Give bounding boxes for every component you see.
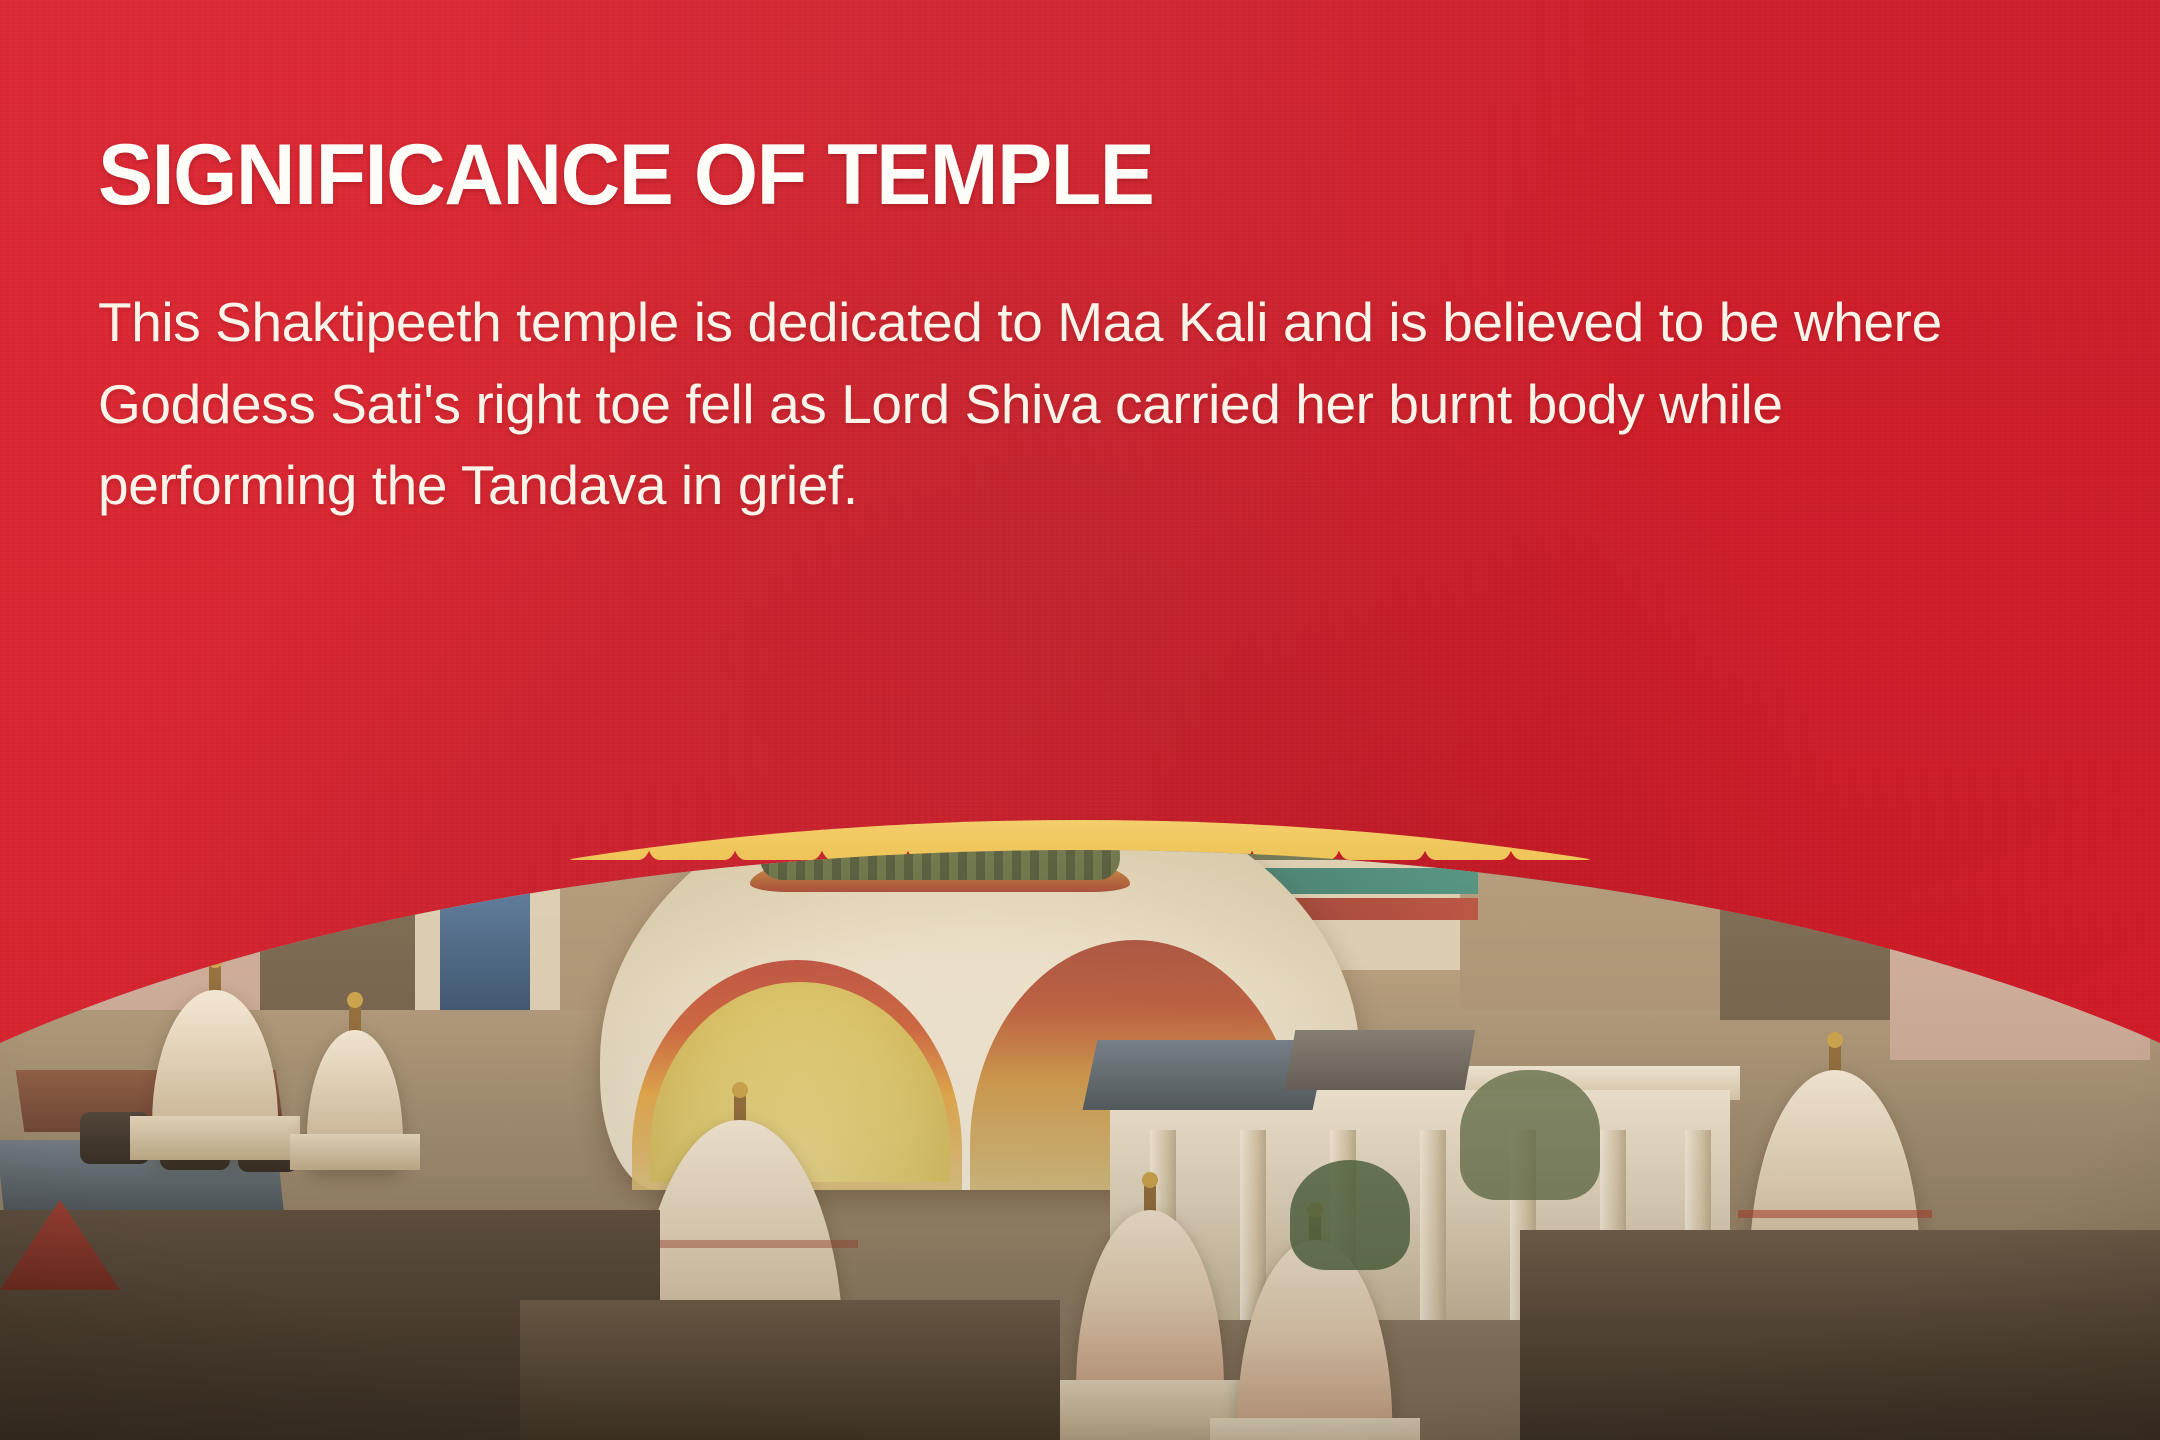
foreground-rooftops-right (1520, 1230, 2160, 1440)
scallop-arch (647, 740, 737, 860)
scallop-arch (561, 740, 651, 860)
billboard (440, 890, 530, 1010)
scallop-arch (1423, 740, 1513, 860)
scallop-arch (906, 740, 996, 860)
shrine-shikhara (130, 990, 300, 1160)
photo-panel (0, 740, 2160, 1440)
slide-canvas: SIGNIFICANCE OF TEMPLE This Shaktipeeth … (0, 0, 2160, 1440)
scallop-arch (303, 740, 393, 860)
scallop-arch (475, 740, 565, 860)
scallop-arch (44, 740, 134, 860)
building-block (1890, 810, 2150, 1060)
scallop-arch (1250, 740, 1340, 860)
scallop-arch (130, 740, 220, 860)
roof-shed (1285, 1030, 1476, 1090)
scallop-arch (1853, 740, 1943, 860)
scallop-arch (992, 740, 1082, 860)
scallop-arch (1767, 740, 1857, 860)
body-paragraph: This Shaktipeeth temple is dedicated to … (98, 282, 1968, 526)
shrine-shikhara (1210, 1240, 1420, 1440)
scallop-arch (2026, 740, 2116, 860)
page-title: SIGNIFICANCE OF TEMPLE (98, 130, 1922, 220)
scallop-arch (1164, 740, 1254, 860)
scallop-arch (1337, 740, 1427, 860)
foreground-rooftops-centre (520, 1300, 1060, 1440)
scallop-arch (1940, 740, 2030, 860)
scallop-arch (1681, 740, 1771, 860)
text-block: SIGNIFICANCE OF TEMPLE This Shaktipeeth … (98, 130, 1998, 526)
scallop-arch (389, 740, 479, 860)
foliage (1460, 1070, 1600, 1200)
scallop-arch (1509, 740, 1599, 860)
scallop-arch (1595, 740, 1685, 860)
scallop-arch (1078, 740, 1168, 860)
scallop-arch (820, 740, 910, 860)
foliage (1290, 1160, 1410, 1270)
scallop-arch (2112, 740, 2160, 860)
shrine-shikhara (290, 1030, 420, 1170)
scallop-arch (733, 740, 823, 860)
scallop-arch (0, 740, 48, 860)
scallop-arch (216, 740, 306, 860)
